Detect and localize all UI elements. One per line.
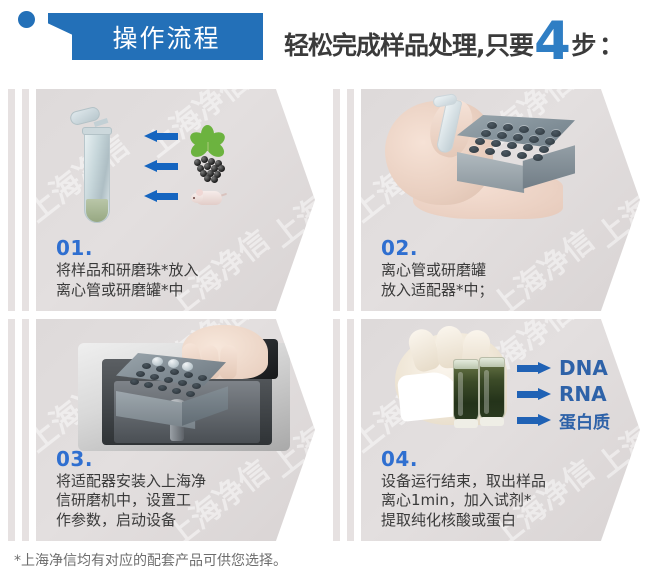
accent-bar-left — [333, 89, 340, 311]
leaf-icon — [190, 121, 226, 151]
steps-grid: 上海净信 上海净信 上海净信 上海净信 — [0, 84, 650, 544]
adapter-loading-image — [385, 95, 585, 213]
accent-bar-right — [347, 319, 354, 541]
step-text-4: 04. 设备运行结束，取出样品 离心1min，加入试剂* 提取纯化核酸或蛋白 — [381, 448, 546, 531]
adapter-block — [457, 115, 575, 193]
step-cell-1: 上海净信 上海净信 上海净信 上海净信 — [0, 84, 325, 314]
banner-dot-icon — [18, 11, 35, 28]
step-panel-4[interactable]: 上海净信 上海净信 上海净信 上海净信 — [361, 319, 640, 541]
centrifuge-tube-image — [70, 107, 122, 225]
step-number: 04. — [381, 448, 546, 470]
subtitle-comma: , — [476, 31, 485, 60]
mouse-icon — [190, 181, 226, 211]
step-panel-3[interactable]: 上海净信 上海净信 上海净信 上海净信 — [36, 319, 315, 541]
output-row-dna: DNA — [517, 355, 610, 381]
sample-row-animal — [144, 181, 226, 211]
arrow-left-icon — [144, 130, 178, 142]
step-number: 03. — [56, 448, 206, 470]
subtitle-step-count: 4 — [534, 21, 570, 63]
output-row-rna: RNA — [517, 381, 610, 407]
step-cell-2: 上海净信 上海净信 上海净信 上海净信 — [325, 84, 650, 314]
step-description: 将样品和研磨珠*放入 离心管或研磨罐*中 — [56, 261, 199, 301]
step-panel-2[interactable]: 上海净信 上海净信 上海净信 上海净信 — [361, 89, 640, 311]
output-label: 蛋白质 — [559, 408, 610, 433]
adapter-block — [116, 353, 226, 429]
subtitle-part3: 步 — [571, 26, 596, 62]
step-description: 离心管或研磨罐 放入适配器*中； — [381, 261, 494, 301]
footnote: *上海净信均有对应的配套产品可供您选择。 — [14, 550, 287, 570]
arrow-right-icon — [517, 414, 551, 426]
step-number: 01. — [56, 237, 199, 259]
subtitle-part2: 只要 — [485, 26, 533, 62]
output-label: DNA — [559, 356, 608, 380]
sample-row-plant — [144, 121, 226, 151]
sample-vials-image — [395, 333, 525, 437]
arrow-right-icon — [517, 362, 551, 374]
step-description: 将适配器安装入上海净 信研磨机中，设置工 作参数，启动设备 — [56, 472, 206, 531]
arrow-right-icon — [517, 388, 551, 400]
output-label: RNA — [559, 382, 607, 406]
vial — [453, 359, 479, 423]
step-text-2: 02. 离心管或研磨罐 放入适配器*中； — [381, 237, 494, 301]
accent-bar-right — [22, 89, 29, 311]
banner-title: 操作流程 — [48, 13, 263, 60]
step-description: 设备运行结束，取出样品 离心1min，加入试剂* 提取纯化核酸或蛋白 — [381, 472, 546, 531]
step-text-3: 03. 将适配器安装入上海净 信研磨机中，设置工 作参数，启动设备 — [56, 448, 206, 531]
header-subtitle: 轻松完成样品处理,只要4步： — [284, 16, 623, 68]
arrow-left-icon — [144, 160, 178, 172]
watermark-text: 上海净信 — [260, 147, 315, 256]
page-header: 操作流程 轻松完成样品处理,只要4步： — [0, 0, 650, 78]
arrow-left-icon — [144, 190, 178, 202]
accent-bar-left — [8, 319, 15, 541]
grinding-beads-icon — [190, 151, 226, 181]
vial — [479, 357, 505, 421]
accent-bar-left — [8, 89, 15, 311]
output-labels: DNA RNA 蛋白质 — [517, 355, 610, 433]
step-cell-4: 上海净信 上海净信 上海净信 上海净信 — [325, 314, 650, 544]
accent-bar-right — [22, 319, 29, 541]
accent-bar-right — [347, 89, 354, 311]
watermark-text: 上海净信 — [480, 217, 602, 311]
accent-bar-left — [333, 319, 340, 541]
sample-row-beads — [144, 151, 226, 181]
subtitle-part1: 轻松完成样品处理 — [284, 26, 476, 62]
grinder-machine-image — [78, 325, 290, 451]
step-panel-1[interactable]: 上海净信 上海净信 上海净信 上海净信 — [36, 89, 315, 311]
output-row-protein: 蛋白质 — [517, 407, 610, 433]
step-cell-3: 上海净信 上海净信 上海净信 上海净信 — [0, 314, 325, 544]
step-text-1: 01. 将样品和研磨珠*放入 离心管或研磨罐*中 — [56, 237, 199, 301]
subtitle-colon: ： — [599, 26, 624, 62]
watermark-text: 上海净信 — [585, 147, 640, 256]
step-number: 02. — [381, 237, 494, 259]
